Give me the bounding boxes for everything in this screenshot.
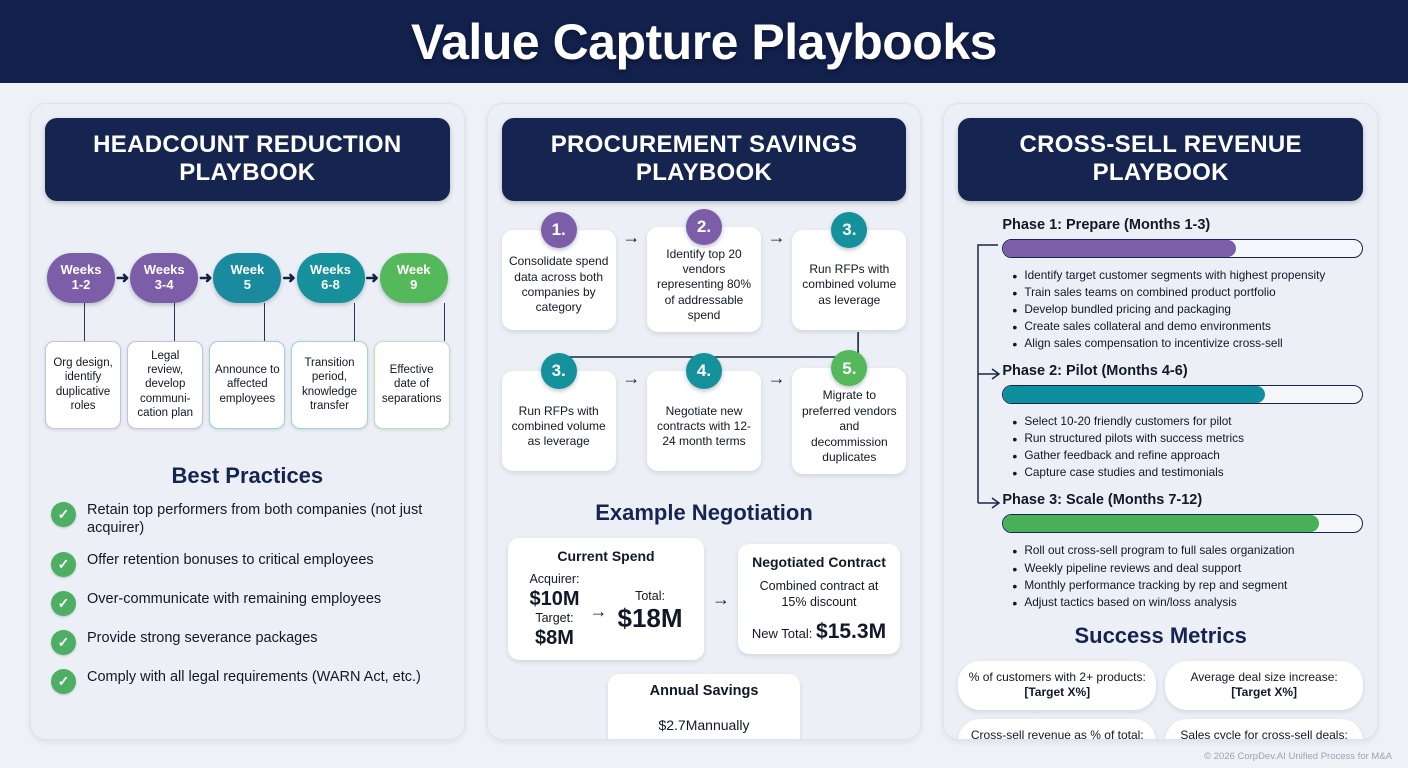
step-box: 4.Negotiate new contracts with 12-24 mon… [647, 371, 761, 471]
best-practice-item: ✓Retain top performers from both compani… [51, 501, 444, 538]
procurement-step: 5.Migrate to preferred vendors and decom… [792, 368, 906, 474]
procurement-steps: 1.Consolidate spend data across both com… [502, 227, 907, 475]
success-metric-card: Average deal size increase: [Target X%] [1165, 661, 1363, 710]
timeline-arrow-icon: ➜ [365, 268, 380, 288]
step-number-badge: 4. [686, 353, 722, 389]
timeline-pill: Week5 [213, 253, 281, 303]
metric-label: Sales cycle for cross-sell deals: [1180, 728, 1347, 740]
timeline-detail-box: Org design, identify duplicative roles [45, 341, 121, 429]
timeline-detail-box: Transition period, knowledge transfer [291, 341, 367, 429]
timeline-stem [84, 303, 85, 341]
success-metrics-list: % of customers with 2+ products: [Target… [958, 661, 1363, 740]
step-text: Identify top 20 vendors representing 80%… [654, 247, 754, 324]
pill-line-2: 6-8 [321, 278, 340, 293]
step-box: 5.Migrate to preferred vendors and decom… [792, 368, 906, 474]
phase-item: Train sales teams on combined product po… [1012, 284, 1363, 301]
steps-row-2: 3.Run RFPs with combined volume as lever… [502, 368, 907, 474]
page-title: Value Capture Playbooks [411, 13, 997, 71]
annual-savings-value: $2.7M [658, 717, 697, 733]
phase-item: Develop bundled pricing and packaging [1012, 301, 1363, 318]
acquirer-value: $10M [529, 587, 579, 611]
step-text: Run RFPs with combined volume as leverag… [799, 262, 899, 308]
panel-cross-sell-revenue: CROSS-SELL REVENUE PLAYBOOK Phase 1: Pre… [943, 103, 1378, 740]
phase-item: Gather feedback and refine approach [1012, 447, 1363, 464]
metric-value: [Target X%] [1024, 685, 1090, 699]
procurement-step: 4.Negotiate new contracts with 12-24 mon… [647, 368, 761, 474]
step-text: Migrate to preferred vendors and decommi… [799, 388, 899, 465]
current-spend-breakdown: Acquirer: $10M Target: $8M [529, 572, 579, 650]
pill-line-2: 1-2 [72, 278, 91, 293]
best-practice-text: Retain top performers from both companie… [87, 501, 444, 538]
step-text: Consolidate spend data across both compa… [509, 254, 609, 315]
pill-line-1: Weeks [310, 263, 351, 278]
negotiated-contract-line: Combined contract at 15% discount [748, 578, 890, 611]
steps-row-1: 1.Consolidate spend data across both com… [502, 227, 907, 333]
step-box: 1.Consolidate spend data across both com… [502, 230, 616, 330]
timeline-stem [174, 303, 175, 341]
new-total-row: New Total: $15.3M [748, 620, 890, 644]
phase-item: Weekly pipeline reviews and deal support [1012, 560, 1363, 577]
procurement-step: 3.Run RFPs with combined volume as lever… [502, 368, 616, 474]
timeline-detail-row: Org design, identify duplicative rolesLe… [45, 341, 450, 429]
target-value: $8M [529, 626, 579, 650]
step-box: 2.Identify top 20 vendors representing 8… [647, 227, 761, 333]
timeline-pill: Week9 [380, 253, 448, 303]
timeline-stem [444, 303, 445, 341]
phase-progress-fill [1003, 515, 1319, 532]
step-number-badge: 2. [686, 209, 722, 245]
panel-headcount-reduction: HEADCOUNT REDUCTION PLAYBOOK Weeks1-2➜We… [30, 103, 465, 740]
phase-title: Phase 1: Prepare (Months 1-3) [1002, 217, 1363, 233]
check-circle-icon: ✓ [51, 552, 76, 577]
timeline-arrow-icon: ➜ [115, 268, 130, 288]
phase-progress-bar [1002, 239, 1363, 258]
step-number-badge: 1. [541, 212, 577, 248]
step-box: 3.Run RFPs with combined volume as lever… [792, 230, 906, 330]
timeline-stem [264, 303, 265, 341]
timeline-detail-box: Effective date of separations [374, 341, 450, 429]
panel-procurement-savings: PROCUREMENT SAVINGS PLAYBOOK 1.Consolida… [487, 103, 922, 740]
check-circle-icon: ✓ [51, 591, 76, 616]
step-arrow-icon: → [767, 368, 786, 474]
phase-item: Roll out cross-sell program to full sale… [1012, 542, 1363, 559]
phase-item: Align sales compensation to incentivize … [1012, 335, 1363, 352]
phase-progress-bar [1002, 385, 1363, 404]
metric-label: Average deal size increase: [1191, 670, 1338, 684]
phases-list: Phase 1: Prepare (Months 1-3)Identify ta… [1002, 217, 1363, 611]
phase-block: Phase 2: Pilot (Months 4-6)Select 10-20 … [1002, 363, 1363, 481]
panel-title-procurement: PROCUREMENT SAVINGS PLAYBOOK [502, 118, 907, 201]
metric-label: % of customers with 2+ products: [969, 670, 1146, 684]
phase-item: Run structured pilots with success metri… [1012, 430, 1363, 447]
timeline-arrow-icon: ➜ [198, 268, 213, 288]
pill-line-1: Weeks [144, 263, 185, 278]
negotiation-cards: Current Spend Acquirer: $10M Target: $8M… [502, 538, 907, 660]
timeline-step-2: Weeks3-4 [130, 253, 198, 303]
current-spend-title: Current Spend [518, 548, 694, 564]
annual-savings-suffix: annually [697, 717, 749, 733]
procurement-step: 1.Consolidate spend data across both com… [502, 227, 616, 333]
procurement-step: 3.Run RFPs with combined volume as lever… [792, 227, 906, 333]
phase-progress-fill [1003, 240, 1236, 257]
best-practice-text: Comply with all legal requirements (WARN… [87, 668, 421, 687]
current-spend-total: Total: $18M [617, 589, 682, 634]
best-practices-list: ✓Retain top performers from both compani… [45, 501, 450, 694]
phase-item: Create sales collateral and demo environ… [1012, 318, 1363, 335]
new-total-value: $15.3M [816, 620, 886, 643]
total-value: $18M [617, 603, 682, 634]
phase-item: Identify target customer segments with h… [1012, 267, 1363, 284]
headcount-timeline: Weeks1-2➜Weeks3-4➜Week5➜Weeks6-8➜Week9 O… [45, 253, 450, 443]
timeline-detail-box: Legal review, develop communi-cation pla… [127, 341, 203, 429]
phase-block: Phase 1: Prepare (Months 1-3)Identify ta… [1002, 217, 1363, 352]
phase-item: Monthly performance tracking by rep and … [1012, 577, 1363, 594]
example-negotiation-heading: Example Negotiation [502, 500, 907, 526]
timeline-arrow-icon: ➜ [281, 268, 296, 288]
success-metric-card: Sales cycle for cross-sell deals: [Targe… [1165, 719, 1363, 740]
timeline-pill-row: Weeks1-2➜Weeks3-4➜Week5➜Weeks6-8➜Week9 [45, 253, 450, 303]
step-arrow-icon: → [622, 227, 641, 333]
pill-line-2: 5 [244, 278, 251, 293]
phase-item: Capture case studies and testimonials [1012, 464, 1363, 481]
best-practices-heading: Best Practices [45, 463, 450, 489]
timeline-pill: Weeks3-4 [130, 253, 198, 303]
success-metrics-heading: Success Metrics [958, 623, 1363, 649]
phase-items: Identify target customer segments with h… [1012, 267, 1363, 352]
success-metric-card: Cross-sell revenue as % of total: [Targe… [958, 719, 1156, 740]
step-text: Negotiate new contracts with 12-24 month… [654, 404, 754, 450]
check-circle-icon: ✓ [51, 502, 76, 527]
phases-container: Phase 1: Prepare (Months 1-3)Identify ta… [958, 217, 1363, 611]
acquirer-label: Acquirer: [529, 572, 579, 586]
phase-progress-bar [1002, 514, 1363, 533]
annual-savings-title: Annual Savings [634, 683, 774, 699]
phase-items: Roll out cross-sell program to full sale… [1012, 542, 1363, 610]
step-number-badge: 3. [541, 353, 577, 389]
metric-label: Cross-sell revenue as % of total: [971, 728, 1144, 740]
pill-line-2: 3-4 [155, 278, 174, 293]
timeline-detail-box: Announce to affected employees [209, 341, 285, 429]
best-practice-text: Offer retention bonuses to critical empl… [87, 551, 374, 570]
pill-line-2: 9 [410, 278, 417, 293]
total-label: Total: [635, 589, 665, 603]
copyright-footer: © 2026 CorpDev.AI Unified Process for M&… [1204, 751, 1392, 762]
target-label: Target: [535, 611, 573, 625]
bracket-arrows-icon [968, 239, 1004, 509]
current-spend-card: Current Spend Acquirer: $10M Target: $8M… [508, 538, 704, 660]
timeline-step-5: Week9 [380, 253, 448, 303]
timeline-stems [45, 303, 450, 341]
best-practice-item: ✓Provide strong severance packages [51, 629, 444, 655]
timeline-stem [354, 303, 355, 341]
timeline-step-1: Weeks1-2 [47, 253, 115, 303]
timeline-step-3: Week5 [213, 253, 281, 303]
check-circle-icon: ✓ [51, 630, 76, 655]
phase-bracket [968, 239, 1004, 509]
timeline-pill: Weeks6-8 [297, 253, 365, 303]
best-practice-text: Provide strong severance packages [87, 629, 318, 648]
spend-arrow-icon: → [585, 601, 611, 622]
step-number-badge: 5. [831, 350, 867, 386]
timeline-step-4: Weeks6-8 [297, 253, 365, 303]
panel-title-crosssell: CROSS-SELL REVENUE PLAYBOOK [958, 118, 1363, 201]
infographic-page: Value Capture Playbooks HEADCOUNT REDUCT… [0, 0, 1408, 768]
success-metric-card: % of customers with 2+ products: [Target… [958, 661, 1156, 710]
title-bar: Value Capture Playbooks [0, 0, 1408, 83]
procurement-step: 2.Identify top 20 vendors representing 8… [647, 227, 761, 333]
pill-line-1: Week [397, 263, 431, 278]
phase-title: Phase 3: Scale (Months 7-12) [1002, 492, 1363, 508]
best-practice-item: ✓Over-communicate with remaining employe… [51, 590, 444, 616]
timeline-pill: Weeks1-2 [47, 253, 115, 303]
step-text: Run RFPs with combined volume as leverag… [509, 404, 609, 450]
step-box: 3.Run RFPs with combined volume as lever… [502, 371, 616, 471]
panel-title-headcount: HEADCOUNT REDUCTION PLAYBOOK [45, 118, 450, 201]
phase-title: Phase 2: Pilot (Months 4-6) [1002, 363, 1363, 379]
best-practice-item: ✓Offer retention bonuses to critical emp… [51, 551, 444, 577]
negotiation-arrow-icon: → [704, 589, 738, 610]
new-total-label: New Total: [752, 626, 812, 641]
current-spend-body: Acquirer: $10M Target: $8M → Total: $18M [518, 572, 694, 650]
step-arrow-icon: → [622, 368, 641, 474]
annual-savings-value-row: $2.7Mannually [634, 699, 774, 739]
negotiated-contract-title: Negotiated Contract [748, 554, 890, 570]
pill-line-1: Week [230, 263, 264, 278]
step-number-badge: 3. [831, 212, 867, 248]
negotiated-contract-card: Negotiated Contract Combined contract at… [738, 544, 900, 655]
best-practice-text: Over-communicate with remaining employee… [87, 590, 381, 609]
phase-block: Phase 3: Scale (Months 7-12)Roll out cro… [1002, 492, 1363, 610]
phase-progress-fill [1003, 386, 1265, 403]
step-arrow-icon: → [767, 227, 786, 333]
phase-item: Select 10-20 friendly customers for pilo… [1012, 413, 1363, 430]
panels-container: HEADCOUNT REDUCTION PLAYBOOK Weeks1-2➜We… [0, 83, 1408, 768]
check-circle-icon: ✓ [51, 669, 76, 694]
best-practice-item: ✓Comply with all legal requirements (WAR… [51, 668, 444, 694]
metric-value: [Target X%] [1231, 685, 1297, 699]
pill-line-1: Weeks [61, 263, 102, 278]
phase-items: Select 10-20 friendly customers for pilo… [1012, 413, 1363, 481]
phase-item: Adjust tactics based on win/loss analysi… [1012, 594, 1363, 611]
annual-savings-card: Annual Savings $2.7Mannually [608, 674, 800, 740]
